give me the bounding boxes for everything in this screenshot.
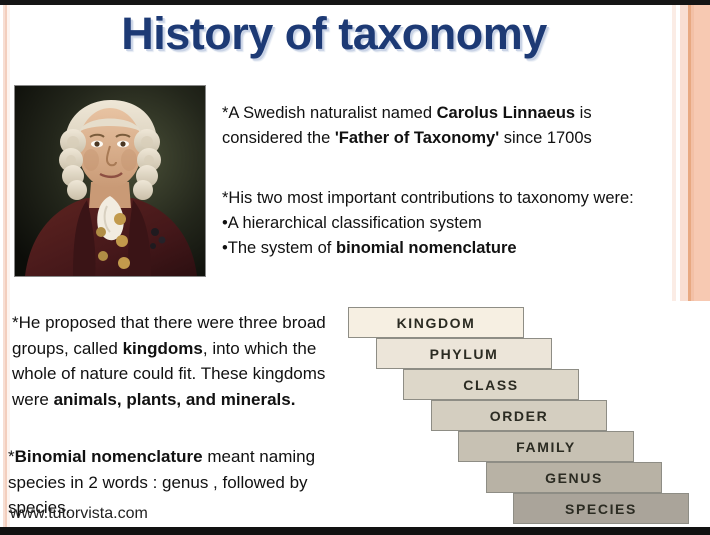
- bullet2-bold: binomial nomenclature: [336, 239, 517, 257]
- rank-step-label: SPECIES: [565, 501, 637, 517]
- rank-step-family: FAMILY: [458, 431, 634, 462]
- rank-step-label: PHYLUM: [430, 346, 499, 362]
- para4-asterisk: *: [8, 447, 15, 466]
- bullet2-part-a: •The system of: [222, 239, 336, 257]
- rank-step-label: GENUS: [545, 470, 603, 486]
- rank-step-label: FAMILY: [516, 439, 576, 455]
- rank-step-phylum: PHYLUM: [376, 338, 552, 369]
- contribution-bullet-1: •A hierarchical classification system: [222, 211, 672, 236]
- letterbox-bar-top: [0, 0, 710, 5]
- contribution-bullet-2: •The system of binomial nomenclature: [222, 236, 672, 261]
- para1-part-a: *A Swedish naturalist named: [222, 104, 437, 122]
- para2-intro: *His two most important contributions to…: [222, 189, 634, 207]
- para3-kingdoms-bold: kingdoms: [123, 339, 203, 358]
- letterbox-bar-bottom: [0, 527, 710, 535]
- portrait-illustration: [15, 86, 205, 276]
- rank-step-label: CLASS: [463, 377, 518, 393]
- page-title: History of taxonomy: [0, 8, 668, 60]
- rank-step-class: CLASS: [403, 369, 579, 400]
- rank-step-species: SPECIES: [513, 493, 689, 524]
- linnaeus-intro-paragraph: *A Swedish naturalist named Carolus Linn…: [222, 101, 672, 151]
- para4-term-bold: Binomial nomenclature: [15, 447, 203, 466]
- rank-step-genus: GENUS: [486, 462, 662, 493]
- para1-part-e: since 1700s: [499, 129, 592, 147]
- rank-step-order: ORDER: [431, 400, 607, 431]
- rank-step-label: KINGDOM: [397, 315, 476, 331]
- slide-canvas: History of taxonomy: [0, 0, 710, 535]
- watermark: www.tutorvista.com: [10, 505, 148, 523]
- kingdoms-paragraph: *He proposed that there were three broad…: [12, 310, 342, 412]
- rank-step-label: ORDER: [490, 408, 549, 424]
- para1-name-bold: Carolus Linnaeus: [437, 104, 575, 122]
- contributions-paragraph: *His two most important contributions to…: [222, 186, 672, 261]
- para1-epithet-bold: 'Father of Taxonomy': [335, 129, 499, 147]
- carolus-linnaeus-portrait: [15, 86, 205, 276]
- para3-groups-bold: animals, plants, and minerals.: [54, 390, 296, 409]
- rank-step-kingdom: KINGDOM: [348, 307, 524, 338]
